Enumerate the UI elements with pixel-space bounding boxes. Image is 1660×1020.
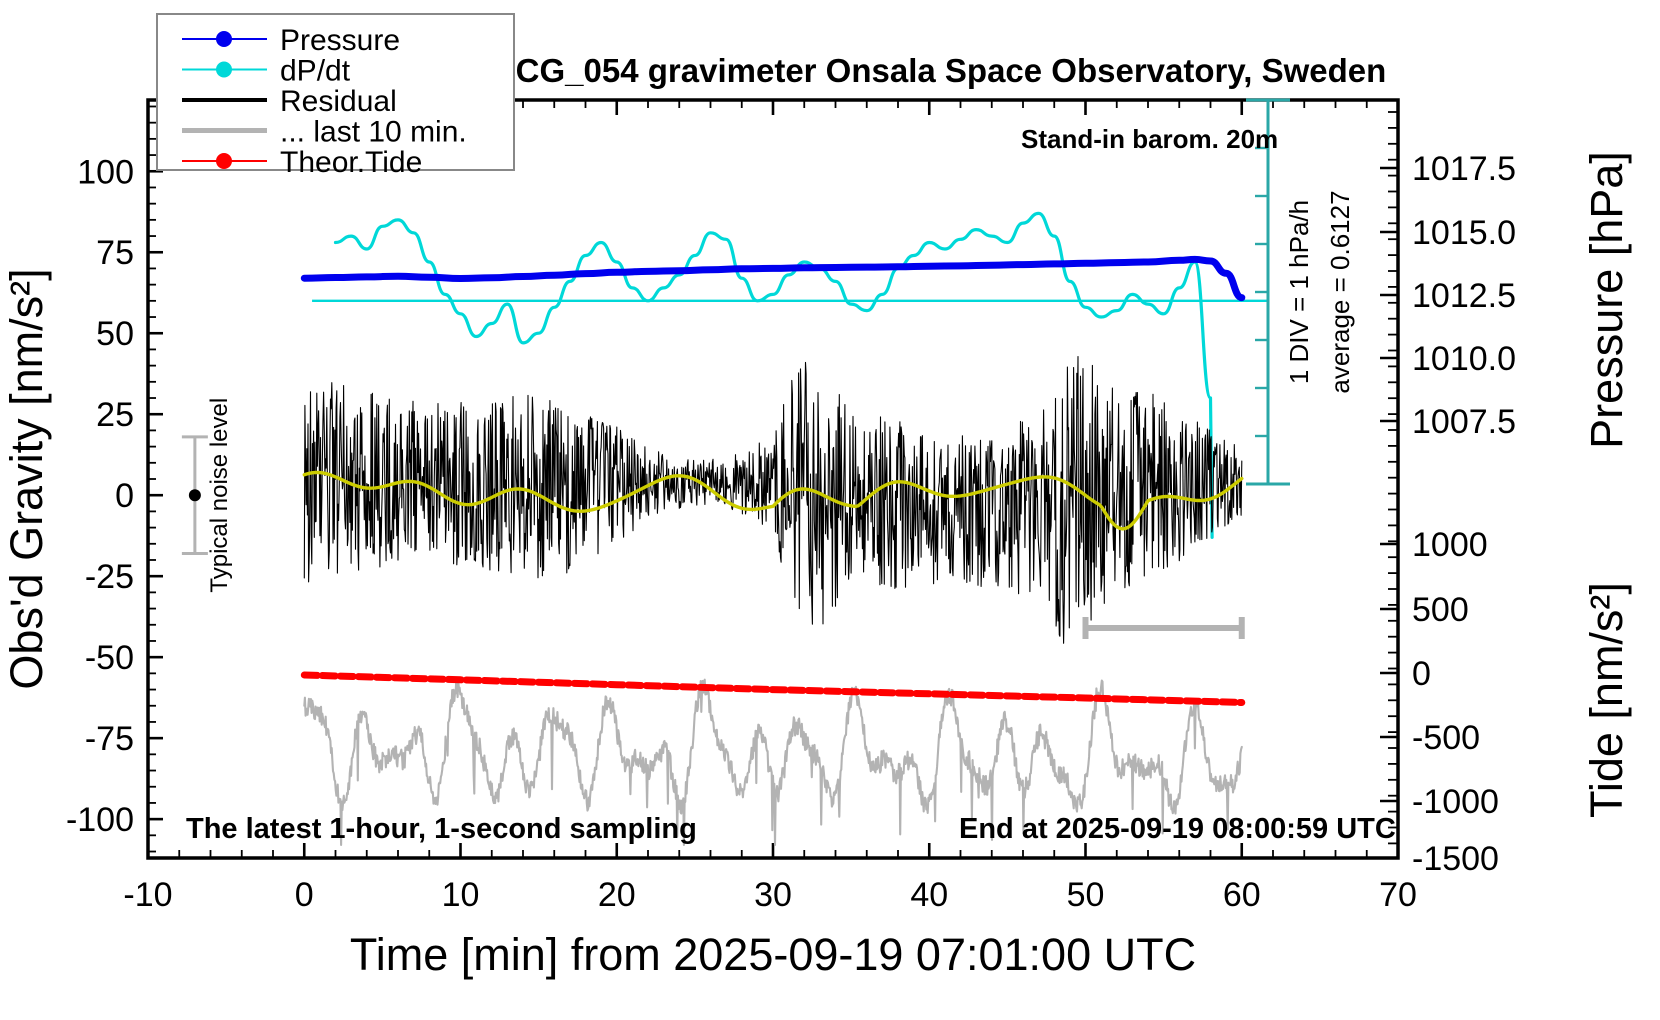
y-left-tick-label: -100 [66,801,134,839]
y-tide-axis-label: Tide [nm/s²] [1581,582,1632,818]
y-tide-tick-label: -1500 [1412,840,1499,878]
x-tick-label: 60 [1223,876,1261,914]
y-left-tick-label: -25 [85,558,134,596]
y-tide-tick-label: 0 [1412,655,1431,693]
y-left-tick-label: 50 [96,315,134,353]
y-tide-tick-label: 1000 [1412,526,1488,564]
y-left-tick-label: -50 [85,639,134,677]
y-pressure-tick-label: 1015.0 [1412,214,1516,252]
legend-label-0: Pressure [280,24,400,57]
legend-label-4: Theor.Tide [280,146,422,179]
x-tick-label: 40 [910,876,948,914]
scalebar-div-label: 1 DIV = 1 hPa/h [1284,200,1314,384]
x-tick-label: 20 [598,876,636,914]
x-tick-label: 10 [442,876,480,914]
x-tick-label: 50 [1067,876,1105,914]
legend-marker-1 [216,62,232,78]
footer-right-label: End at 2025-09-19 08:00:59 UTC [959,813,1396,845]
y-left-tick-label: 75 [96,234,134,272]
noise-level-label: Typical noise level [206,398,233,593]
footer-left-label: The latest 1-hour, 1-second sampling [186,813,697,845]
gravimeter-plot: -10010203040506070Time [min] from 2025-0… [0,0,1660,1020]
y-left-tick-label: -75 [85,720,134,758]
y-left-tick-label: 25 [96,396,134,434]
x-tick-label: -10 [123,876,172,914]
legend-label-2: Residual [280,85,397,118]
y-pressure-tick-label: 1007.5 [1412,403,1516,441]
y-left-tick-label: 100 [77,153,134,191]
y-left-tick-label: 0 [115,477,134,515]
chart-title: SCG_054 gravimeter Onsala Space Observat… [494,52,1387,89]
y-pressure-axis-label: Pressure [hPa] [1581,151,1632,449]
x-tick-label: 0 [295,876,314,914]
y-tide-tick-label: -1000 [1412,783,1499,821]
x-tick-label: 30 [754,876,792,914]
y-pressure-tick-label: 1017.5 [1412,150,1516,188]
x-axis-label: Time [min] from 2025-09-19 07:01:00 UTC [350,929,1196,980]
legend-marker-4 [216,153,232,169]
noise-center-dot [189,489,201,501]
legend-label-1: dP/dt [280,55,351,88]
legend-label-3: ... last 10 min. [280,116,467,149]
y-pressure-tick-label: 1010.0 [1412,340,1516,378]
scalebar-avg-label: average = 0.6127 [1325,190,1355,393]
legend-marker-0 [216,31,232,47]
y-left-axis-label: Obs'd Gravity [nm/s²] [1,268,52,689]
y-tide-tick-label: -500 [1412,719,1480,757]
y-tide-tick-label: 500 [1412,591,1469,629]
chart-canvas: -10010203040506070Time [min] from 2025-0… [0,0,1660,1020]
x-tick-label: 70 [1379,876,1417,914]
standin-barom-label: Stand-in barom. 20m [1021,124,1278,154]
y-pressure-tick-label: 1012.5 [1412,277,1516,315]
